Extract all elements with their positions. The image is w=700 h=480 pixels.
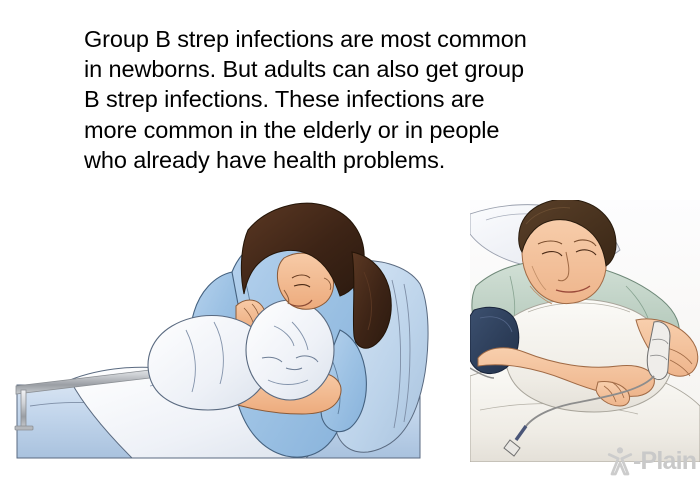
x-plain-logo: -Plain [606,442,698,476]
baby-head [246,300,334,400]
x-plain-figure-icon [606,446,634,476]
illustration-elderly-patient-in-bed [470,200,700,462]
body-text: Group B strep infections are most common… [84,24,624,175]
illustration-mother-holding-newborn [0,180,460,460]
mother-newborn-artwork [0,180,460,460]
x-plain-logo-text: -Plain [633,449,696,476]
elderly-patient-artwork [470,200,700,462]
slide-canvas: Group B strep infections are most common… [0,0,700,480]
